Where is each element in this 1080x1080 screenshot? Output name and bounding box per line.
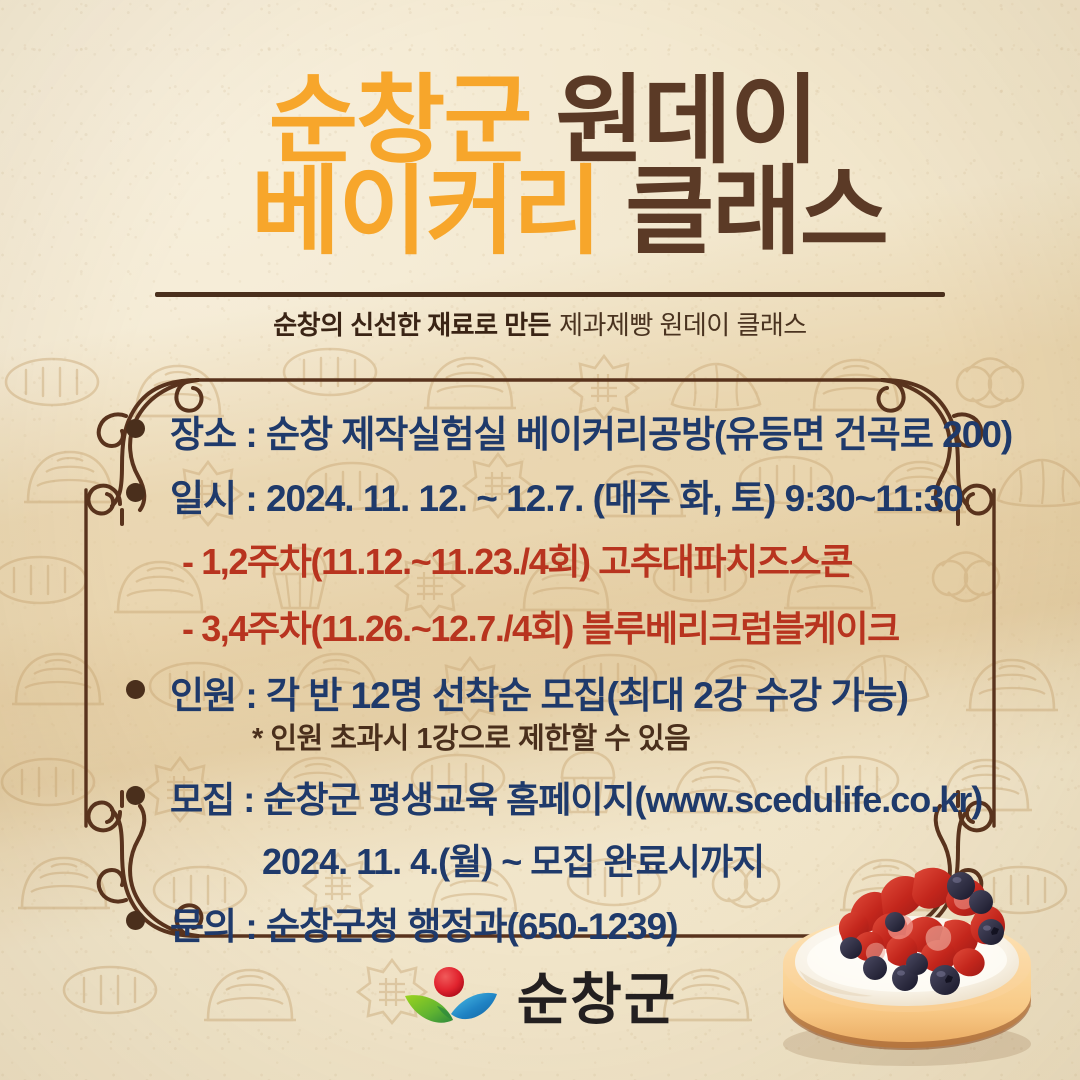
detail-line-capacity: 인원 : 각 반 12명 선착순 모집(최대 2강 수강 가능) — [170, 665, 908, 719]
course-item-week-1-2: - 1,2주차(11.12.~11.23./4회) 고추대파치즈스콘 — [182, 533, 852, 585]
logo-text-sunchang-gun: 순창군 — [517, 972, 678, 1028]
detail-line-apply: 모집 : 순창군 평생교육 홈페이지(www.scedulife.co.kr) — [170, 771, 982, 823]
bullet-dot-apply — [126, 786, 145, 805]
apply-period: 2024. 11. 4.(월) ~ 모집 완료시까지 — [262, 833, 764, 885]
bullet-dot-contact — [126, 911, 145, 930]
capacity-note: * 인원 초과시 1강으로 제한할 수 있음 — [252, 715, 690, 757]
bullet-dot-date — [126, 483, 145, 502]
bullet-dot-capacity — [126, 680, 145, 699]
detail-line-date: 일시 : 2024. 11. 12. ~ 12.7. (매주 화, 토) 9:3… — [170, 468, 963, 522]
detail-line-contact: 문의 : 순창군청 행정과(650-1239) — [170, 896, 678, 950]
poster-canvas: 순창군 원데이 베이커리 클래스 순창의 신선한 재료로 만든제과제빵 원데이 … — [0, 0, 1080, 1080]
detail-line-place: 장소 : 순창 제작실험실 베이커리공방(유등면 건곡로 200) — [170, 404, 1012, 458]
bullet-dot-place — [126, 419, 145, 438]
sunchang-county-emblem-icon — [403, 962, 499, 1038]
footer-logo: 순창군 — [0, 962, 1080, 1038]
course-item-week-3-4: - 3,4주차(11.26.~12.7./4회) 블루베리크럼블케이크 — [182, 600, 899, 652]
